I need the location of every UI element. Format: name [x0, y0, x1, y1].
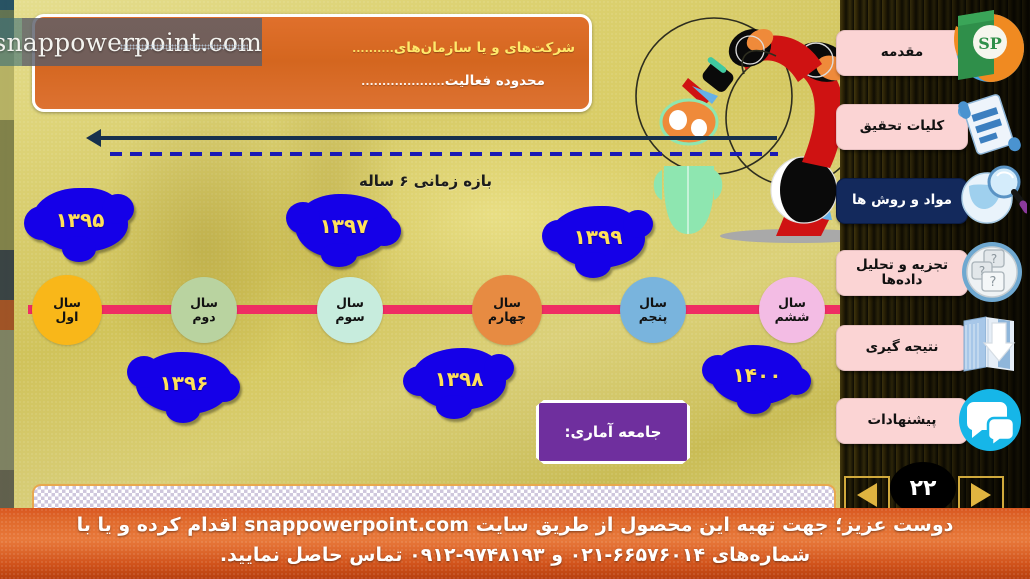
menu-item-mavad-va-raveshha[interactable]: مواد و روش ها	[836, 178, 968, 224]
menu-item-label: کلیات تحقیق	[860, 119, 944, 134]
menu-item-label: مقدمه	[881, 45, 923, 60]
menu-item-natijegiri[interactable]: نتیجه گیری	[836, 325, 968, 371]
year-blob-label: ۱۳۹۵	[56, 208, 105, 232]
promo-phone-2: ۰۹۱۲-۹۷۴۸۱۹۳	[409, 544, 544, 566]
powerpoint-slide: شرکت‌های و یا سازمان‌های.......... محدود…	[0, 0, 1030, 579]
year-blob-label: ۱۳۹۹	[574, 225, 623, 249]
promo-phone-1: ۰۲۱-۶۶۵۷۶۰۱۴	[570, 544, 705, 566]
menu-item-label: مواد و روش ها	[852, 193, 952, 208]
question-bubbles-icon: ? ? ?	[960, 240, 1024, 308]
timeline-node-year-6[interactable]: سال ششم	[759, 277, 825, 343]
timeline-dashed-arrow	[110, 152, 778, 156]
timeline-node-year-5[interactable]: سال پنجم	[620, 277, 686, 343]
node-label-top: سال	[778, 296, 806, 310]
header-line-1-dots: ..........	[352, 42, 394, 55]
year-blob-label: ۱۴۰۰	[733, 363, 782, 387]
node-label-bottom: سوم	[335, 310, 364, 324]
node-label-top: سال	[53, 296, 81, 310]
menu-item-label: پیشنهادات	[868, 413, 937, 428]
timeline-node-year-1[interactable]: سال اول	[32, 275, 102, 345]
year-blob-label: ۱۳۹۸	[435, 367, 484, 391]
header-line-2-dots: ....................	[361, 75, 445, 88]
menu-item-label: تجزیه و تحلیل داده‌ها	[837, 258, 967, 288]
header-line-2: محدوده فعالیت....................	[361, 73, 545, 89]
plaque-label: جامعه آماری:	[565, 423, 662, 441]
node-label-bottom: اول	[56, 310, 79, 324]
promo-prefix: شماره‌های	[705, 544, 810, 566]
slide-canvas: شرکت‌های و یا سازمان‌های.......... محدود…	[14, 0, 840, 510]
timeline-node-year-2[interactable]: سال دوم	[171, 277, 237, 343]
menu-item-pishnahadat[interactable]: پیشنهادات	[836, 398, 968, 444]
page-navigation: ۲۲	[830, 462, 1030, 510]
globe-search-icon	[957, 160, 1027, 230]
node-label-bottom: دوم	[192, 310, 215, 324]
prev-arrow-icon	[857, 483, 877, 507]
menu-item-kolliyat-tahghigh[interactable]: کلیات تحقیق	[836, 104, 968, 150]
watermark-text: snappowerpoint.com	[0, 28, 262, 57]
promo-line-2: شماره‌های ۰۲۱-۶۶۵۷۶۰۱۴ و ۰۹۱۲-۹۷۴۸۱۹۳ تم…	[0, 544, 1030, 566]
header-line-2-text: محدوده فعالیت	[445, 73, 545, 89]
time-range-label: بازه زمانی ۶ ساله	[359, 172, 492, 190]
promo-banner: دوست عزیز؛ جهت تهیه این محصول از طریق سا…	[0, 508, 1030, 579]
year-blob-1396: ۱۳۹۶	[136, 352, 232, 414]
year-blob-1395: ۱۳۹۵	[32, 188, 128, 252]
header-line-1: شرکت‌های و یا سازمان‌های..........	[352, 40, 575, 56]
left-color-strip	[0, 0, 14, 579]
menu-item-tajziye-tahlil-dadeha[interactable]: تجزیه و تحلیل داده‌ها	[836, 250, 968, 296]
navigation-menu: مقدمه SP کلیات تحقیق	[830, 0, 1030, 510]
promo-line-1: دوست عزیز؛ جهت تهیه این محصول از طریق سا…	[0, 514, 1030, 536]
year-blob-1397: ۱۳۹۷	[295, 194, 393, 258]
promo-conjunction: و	[545, 544, 570, 566]
robot-arm-illustration	[626, 0, 840, 262]
node-label-bottom: ششم	[775, 310, 810, 324]
year-blob-1400: ۱۴۰۰	[711, 345, 803, 405]
statistical-population-plaque: جامعه آماری:	[536, 400, 690, 464]
timeline-node-year-4[interactable]: سال چهارم	[472, 275, 542, 345]
header-line-1-text: شرکت‌های و یا سازمان‌های	[394, 40, 575, 56]
page-number-badge: ۲۲	[890, 462, 956, 514]
scroll-icon	[958, 92, 1022, 166]
node-label-bottom: چهارم	[488, 310, 526, 324]
node-label-top: سال	[639, 296, 667, 310]
timeline-node-year-3[interactable]: سال سوم	[317, 277, 383, 343]
year-blob-label: ۱۳۹۷	[320, 214, 369, 238]
download-book-icon	[958, 313, 1024, 379]
thesis-title-strip: عنوان پایان نامه: ............	[32, 484, 836, 510]
year-blob-label: ۱۳۹۶	[160, 371, 209, 395]
svg-text:SP: SP	[978, 34, 1002, 53]
timeline-baseline	[28, 305, 840, 314]
year-blob-1398: ۱۳۹۸	[412, 348, 506, 410]
node-label-top: سال	[493, 296, 521, 310]
promo-suffix: تماس حاصل نمایید.	[220, 544, 409, 566]
node-label-top: سال	[336, 296, 364, 310]
next-arrow-icon	[971, 483, 991, 507]
watermark-dot-underline	[120, 44, 248, 50]
timeline-solid-arrow	[99, 136, 777, 140]
node-label-bottom: پنجم	[639, 310, 668, 324]
year-blob-1399: ۱۳۹۹	[551, 206, 645, 268]
node-label-top: سال	[190, 296, 218, 310]
menu-item-label: نتیجه گیری	[866, 340, 939, 355]
sp-book-icon: SP	[942, 6, 1024, 94]
page-number-text: ۲۲	[910, 476, 937, 501]
chat-bubbles-icon	[958, 388, 1022, 456]
svg-text:?: ?	[990, 275, 997, 290]
site-watermark: snappowerpoint.com	[0, 18, 262, 66]
